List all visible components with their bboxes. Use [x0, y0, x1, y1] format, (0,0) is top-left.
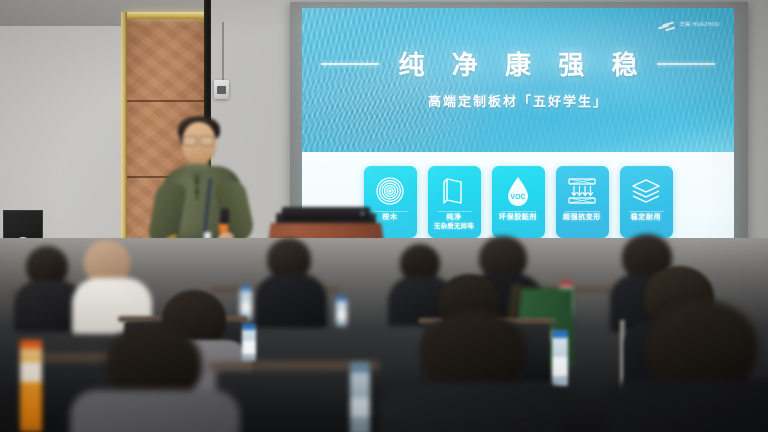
water-bottle-icon	[336, 296, 347, 326]
audience-area	[0, 238, 768, 432]
brand-swoosh-icon	[658, 21, 676, 30]
brand-logo: 华美 HUAZHOU	[658, 21, 720, 30]
water-bottle-icon	[552, 330, 568, 386]
board-panel-icon	[428, 169, 481, 213]
water-bottle-icon	[350, 362, 370, 432]
gold-trim-light	[126, 12, 206, 19]
card-divider	[501, 211, 536, 212]
feature-card-label: 纯净 无杂质无异味	[428, 213, 481, 231]
feature-card-label: 超强抗变形	[556, 213, 609, 222]
feature-card-label: 稳定耐用	[620, 213, 673, 222]
card-divider	[565, 211, 600, 212]
feature-card: VOC 环保胶黏剂	[492, 166, 545, 238]
presenter-button	[195, 190, 199, 194]
feature-card: 稳定耐用	[620, 166, 673, 238]
wood-panel-seam	[126, 100, 204, 102]
slide-subheadline: 高端定制板材「五好学生」	[428, 91, 608, 110]
water-bottle-icon	[242, 324, 256, 362]
slide-hero-band: 华美 HUAZHOU 纯 净 康 强 稳 高端定制板材「五好学生」	[302, 8, 734, 152]
slide-headline: 纯 净 康 强 稳	[389, 45, 648, 82]
feature-card-label: 环保胶黏剂	[492, 213, 545, 222]
feature-card: 纯净 无杂质无异味	[428, 166, 481, 238]
presenter-glasses	[183, 136, 214, 144]
presenter-placket	[196, 174, 198, 200]
water-bottle-icon	[240, 286, 252, 320]
presentation-photo-scene: 华美 HUAZHOU 纯 净 康 强 稳 高端定制板材「五好学生」	[0, 0, 768, 432]
presenter-button	[195, 180, 199, 184]
press-arrows-icon	[556, 169, 609, 213]
orange-drink-bottle	[20, 340, 42, 432]
feature-card: 超强抗变形	[556, 166, 609, 238]
headline-rule-right	[657, 63, 715, 65]
water-drop-voc-icon: VOC	[492, 169, 545, 213]
layers-stack-icon	[620, 169, 673, 213]
laptop-icon	[282, 207, 370, 219]
feature-card-label-line2: 无杂质无异味	[430, 223, 479, 232]
card-divider	[437, 211, 472, 212]
voc-label: VOC	[510, 194, 525, 201]
feature-card-label-line1: 纯净	[446, 214, 461, 221]
brand-name: 华美 HUAZHOU	[680, 23, 720, 29]
headline-rule-left	[321, 63, 379, 65]
slide-headline-block: 纯 净 康 强 稳 高端定制板材「五好学生」	[302, 45, 734, 110]
sensor-wire	[222, 22, 224, 82]
ceiling-sensor-icon	[214, 80, 229, 99]
card-divider	[629, 211, 664, 212]
